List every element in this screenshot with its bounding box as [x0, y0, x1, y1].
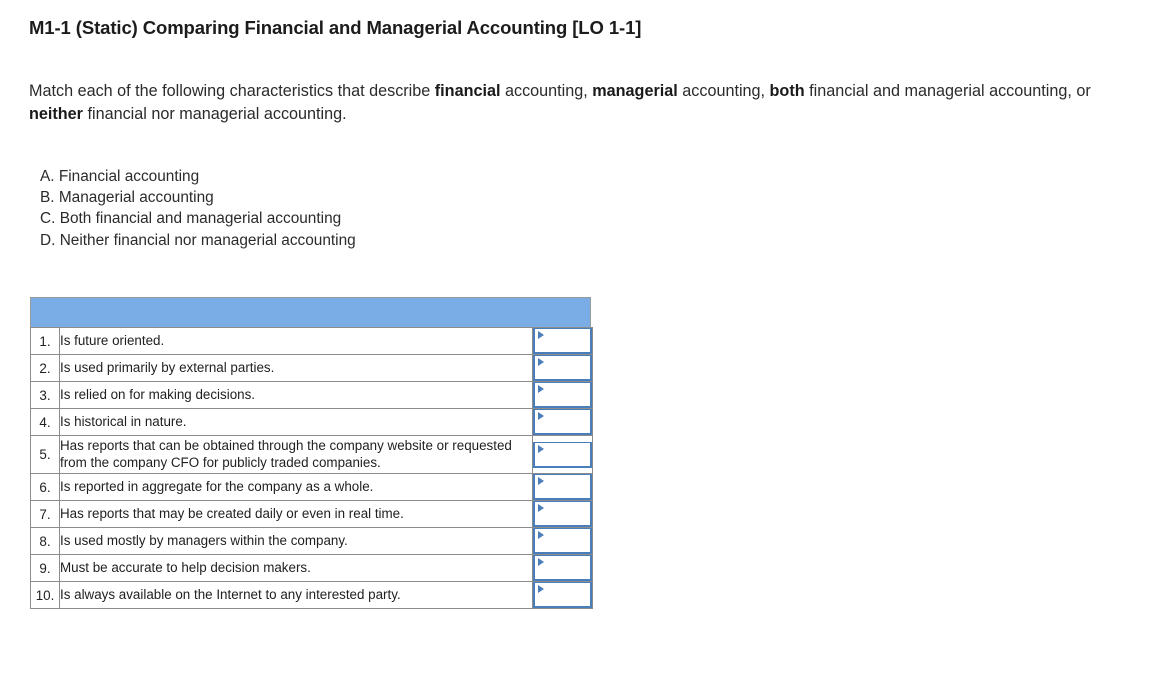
answer-dropdown[interactable]	[533, 328, 592, 354]
option-text-a: Financial accounting	[59, 168, 199, 185]
answer-dropdown[interactable]	[533, 474, 592, 500]
row-characteristic-text: Is relied on for making decisions.	[60, 382, 533, 409]
instructions-paragraph: Match each of the following characterist…	[29, 80, 1144, 126]
table-row: 10.Is always available on the Internet t…	[31, 582, 593, 609]
option-item-a: A. Financial accounting	[40, 166, 356, 187]
dropdown-arrow-icon[interactable]	[538, 558, 544, 566]
answer-dropdown[interactable]	[533, 355, 592, 381]
row-number: 1.	[31, 328, 60, 355]
row-characteristic-text: Is historical in nature.	[60, 409, 533, 436]
table-row: 3.Is relied on for making decisions.	[31, 382, 593, 409]
table-row: 4.Is historical in nature.	[31, 409, 593, 436]
instructions-bold-managerial: managerial	[592, 82, 677, 100]
dropdown-arrow-icon[interactable]	[538, 358, 544, 366]
row-number: 3.	[31, 382, 60, 409]
option-item-c: C. Both financial and managerial account…	[40, 208, 356, 229]
row-characteristic-text: Is always available on the Internet to a…	[60, 582, 533, 609]
instructions-part-2: accounting,	[500, 82, 592, 100]
row-number: 7.	[31, 501, 60, 528]
dropdown-arrow-icon[interactable]	[538, 445, 544, 453]
row-number: 10.	[31, 582, 60, 609]
dropdown-arrow-icon[interactable]	[538, 385, 544, 393]
option-text-c: Both financial and managerial accounting	[60, 210, 342, 227]
matching-table-body: 1.Is future oriented.2.Is used primarily…	[30, 327, 593, 609]
row-number: 2.	[31, 355, 60, 382]
row-characteristic-text: Is future oriented.	[60, 328, 533, 355]
answer-cell[interactable]	[533, 474, 593, 501]
row-number: 5.	[31, 436, 60, 474]
option-item-b: B. Managerial accounting	[40, 187, 356, 208]
row-characteristic-text: Is used primarily by external parties.	[60, 355, 533, 382]
instructions-part-5: financial nor managerial accounting.	[83, 105, 347, 123]
row-number: 6.	[31, 474, 60, 501]
option-text-d: Neither financial nor managerial account…	[60, 232, 356, 249]
answer-dropdown[interactable]	[533, 382, 592, 408]
row-number: 4.	[31, 409, 60, 436]
answer-dropdown[interactable]	[533, 501, 592, 527]
page-title: M1-1 (Static) Comparing Financial and Ma…	[29, 17, 641, 39]
table-row: 6.Is reported in aggregate for the compa…	[31, 474, 593, 501]
answer-dropdown[interactable]	[533, 582, 592, 608]
dropdown-arrow-icon[interactable]	[538, 331, 544, 339]
answer-cell[interactable]	[533, 355, 593, 382]
option-letter-a: A.	[40, 168, 55, 185]
answer-dropdown[interactable]	[533, 442, 592, 468]
answer-dropdown[interactable]	[533, 409, 592, 435]
row-characteristic-text: Is reported in aggregate for the company…	[60, 474, 533, 501]
answer-cell[interactable]	[533, 382, 593, 409]
instructions-part-1: Match each of the following characterist…	[29, 82, 435, 100]
table-row: 1.Is future oriented.	[31, 328, 593, 355]
instructions-bold-neither: neither	[29, 105, 83, 123]
row-characteristic-text: Has reports that may be created daily or…	[60, 501, 533, 528]
option-item-d: D. Neither financial nor managerial acco…	[40, 230, 356, 251]
option-letter-d: D.	[40, 232, 55, 249]
instructions-part-3: accounting,	[678, 82, 770, 100]
table-row: 2.Is used primarily by external parties.	[31, 355, 593, 382]
instructions-bold-financial: financial	[435, 82, 501, 100]
option-letter-b: B.	[40, 189, 55, 206]
option-letter-c: C.	[40, 210, 55, 227]
table-header-bar	[30, 297, 591, 327]
dropdown-arrow-icon[interactable]	[538, 477, 544, 485]
table-row: 5.Has reports that can be obtained throu…	[31, 436, 593, 474]
answer-dropdown[interactable]	[533, 528, 592, 554]
row-characteristic-text: Is used mostly by managers within the co…	[60, 528, 533, 555]
dropdown-arrow-icon[interactable]	[538, 504, 544, 512]
dropdown-arrow-icon[interactable]	[538, 585, 544, 593]
table-row: 9.Must be accurate to help decision make…	[31, 555, 593, 582]
dropdown-arrow-icon[interactable]	[538, 412, 544, 420]
answer-cell[interactable]	[533, 409, 593, 436]
instructions-bold-both: both	[770, 82, 805, 100]
row-number: 9.	[31, 555, 60, 582]
matching-table: 1.Is future oriented.2.Is used primarily…	[30, 297, 591, 609]
answer-cell[interactable]	[533, 528, 593, 555]
option-text-b: Managerial accounting	[59, 189, 214, 206]
answer-cell[interactable]	[533, 328, 593, 355]
answer-cell[interactable]	[533, 436, 593, 474]
dropdown-arrow-icon[interactable]	[538, 531, 544, 539]
table-row: 8.Is used mostly by managers within the …	[31, 528, 593, 555]
answer-cell[interactable]	[533, 582, 593, 609]
instructions-part-4: financial and managerial accounting, or	[805, 82, 1091, 100]
answer-option-list: A. Financial accounting B. Managerial ac…	[40, 166, 356, 251]
row-number: 8.	[31, 528, 60, 555]
row-characteristic-text: Must be accurate to help decision makers…	[60, 555, 533, 582]
answer-cell[interactable]	[533, 501, 593, 528]
answer-dropdown[interactable]	[533, 555, 592, 581]
row-characteristic-text: Has reports that can be obtained through…	[60, 436, 533, 474]
table-row: 7.Has reports that may be created daily …	[31, 501, 593, 528]
answer-cell[interactable]	[533, 555, 593, 582]
